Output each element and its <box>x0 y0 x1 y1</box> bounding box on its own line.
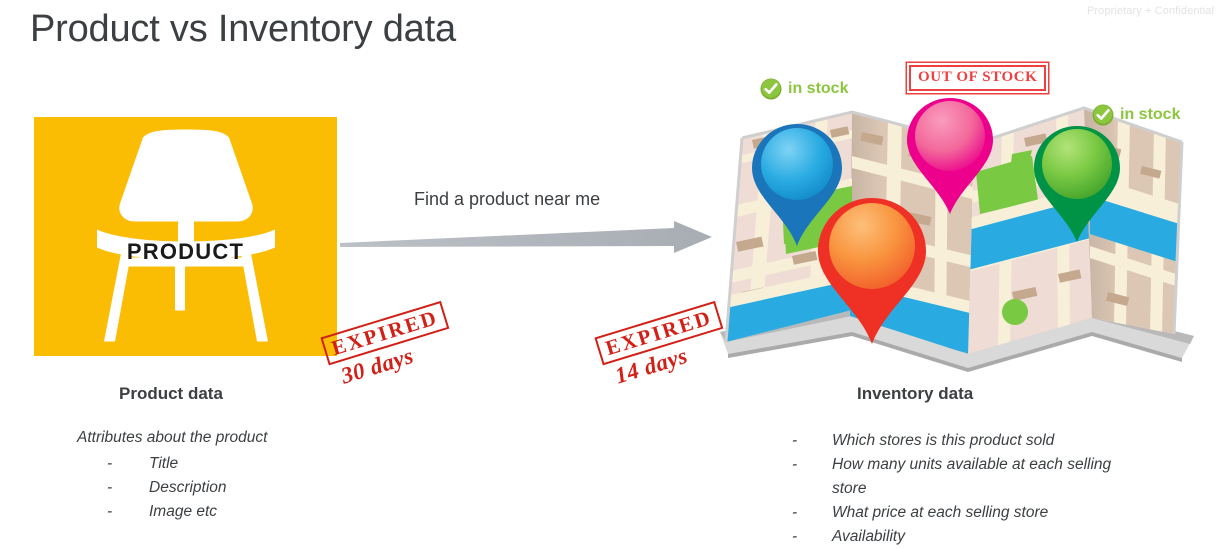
list-item: - Availability <box>792 525 1122 549</box>
bullet-marker: - <box>107 500 149 524</box>
expired-stamp-inventory: EXPIRED 14 days <box>594 301 731 392</box>
list-item: - Which stores is this product sold <box>792 429 1122 453</box>
bullet-marker: - <box>107 452 149 476</box>
inventory-data-caption: Inventory data <box>857 384 973 404</box>
product-data-caption: Product data <box>119 384 223 404</box>
check-circle-icon <box>760 78 782 100</box>
check-circle-icon <box>1092 104 1114 126</box>
product-intro-line: Attributes about the product <box>77 426 377 450</box>
list-item: - What price at each selling store <box>792 501 1122 525</box>
arrow-label: Find a product near me <box>414 189 600 210</box>
bullet-text: Image etc <box>149 500 217 524</box>
bullet-text: Title <box>149 452 178 476</box>
bullet-text: How many units available at each selling… <box>832 453 1122 501</box>
bullet-marker: - <box>792 453 832 501</box>
chair-icon <box>91 129 281 344</box>
expired-stamp-product: EXPIRED 30 days <box>320 301 457 392</box>
status-badge-in-stock-2: in stock <box>1092 104 1180 126</box>
inventory-data-description: - Which stores is this product sold - Ho… <box>792 427 1122 549</box>
bullet-text: Which stores is this product sold <box>832 429 1122 453</box>
bullet-text: What price at each selling store <box>832 501 1122 525</box>
out-of-stock-label: OUT OF STOCK <box>918 70 1037 85</box>
page-title: Product vs Inventory data <box>30 8 456 51</box>
product-data-description: Attributes about the product - Title - D… <box>77 426 377 524</box>
inventory-bullet-list: - Which stores is this product sold - Ho… <box>792 429 1122 549</box>
confidential-notice: Proprietary + Confidential <box>1087 5 1214 17</box>
product-word-label: PRODUCT <box>127 239 244 265</box>
bullet-marker: - <box>107 476 149 500</box>
bullet-marker: - <box>792 501 832 525</box>
bullet-marker: - <box>792 525 832 549</box>
list-item: - Image etc <box>107 500 377 524</box>
product-bullet-list: - Title - Description - Image etc <box>107 452 377 524</box>
status-badge-label: in stock <box>788 80 848 98</box>
arrow-icon <box>340 220 712 254</box>
flow-arrow <box>340 220 712 254</box>
map-illustration <box>712 96 1204 374</box>
list-item: - How many units available at each selli… <box>792 453 1122 501</box>
bullet-marker: - <box>792 429 832 453</box>
status-badge-label: in stock <box>1120 106 1180 124</box>
out-of-stock-stamp: OUT OF STOCK <box>909 65 1046 91</box>
list-item: - Description <box>107 476 377 500</box>
folded-map-graphic <box>712 96 1204 374</box>
slide-canvas: Proprietary + Confidential Product vs In… <box>0 0 1228 540</box>
product-image-card: PRODUCT <box>34 117 337 356</box>
status-badge-in-stock-1: in stock <box>760 78 848 100</box>
bullet-text: Availability <box>832 525 1122 549</box>
bullet-text: Description <box>149 476 227 500</box>
list-item: - Title <box>107 452 377 476</box>
